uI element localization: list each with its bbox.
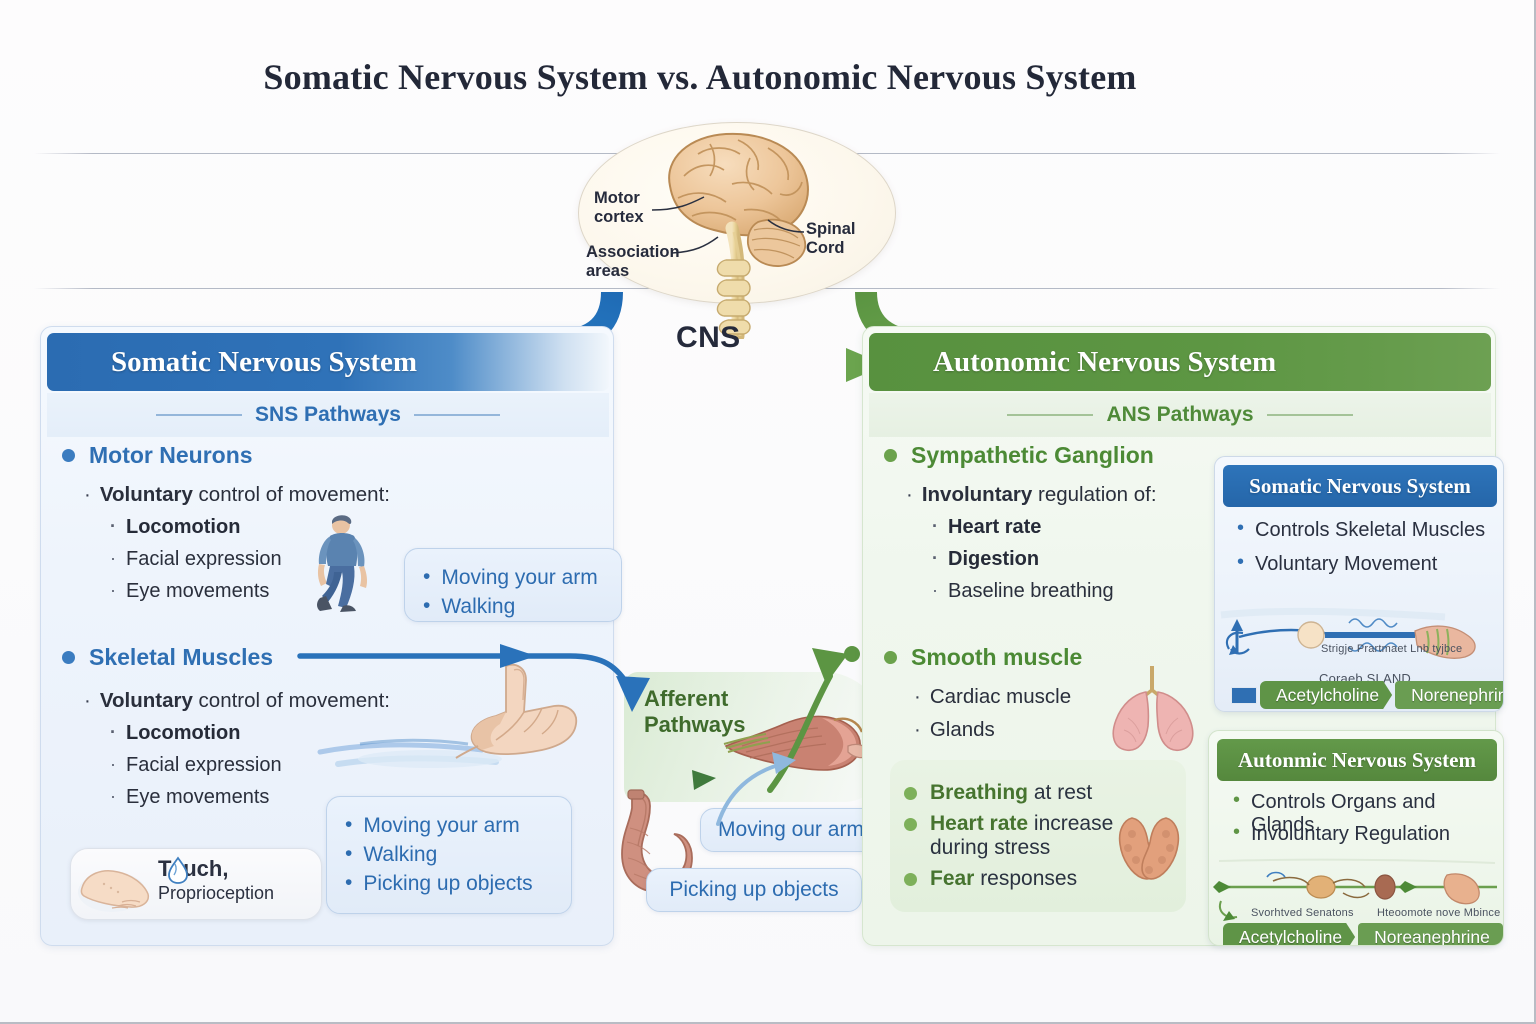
bullet-dot-icon: •: [1237, 519, 1244, 538]
compare-autonomic-neurotransmitters: Acetylcholine Noreanephrine: [1223, 923, 1503, 946]
tick-icon: ·: [932, 548, 938, 571]
page-title: Somatic Nervous System vs. Autonomic Ner…: [0, 56, 1400, 98]
compare-autonomic-diagram-label-2: Hteoomote nove Mbince: [1377, 907, 1500, 919]
sns-panel-header: Somatic Nervous System: [47, 333, 609, 391]
tick-icon: ·: [110, 548, 116, 571]
acetylcholine-badge: Acetylcholine: [1223, 923, 1355, 946]
bullet-dot-icon: [904, 873, 917, 886]
tick-icon: ·: [84, 483, 91, 507]
ans-block1-lead: · Involuntary regulation of:: [906, 483, 1214, 507]
norepinephrine-badge: Norenephrime: [1395, 681, 1504, 709]
tick-icon: ·: [110, 580, 116, 603]
middle-chip-picking-up-objects: Picking up objects: [646, 868, 862, 912]
label-spinal-cord: Spinal Cord: [806, 220, 870, 258]
heading-text: Motor Neurons: [89, 442, 253, 469]
droplet-icon: [166, 856, 190, 884]
bullet-dot-icon: •: [345, 814, 352, 835]
lead-bold: Voluntary: [100, 689, 193, 712]
bullet-dot-icon: •: [345, 872, 352, 893]
list-item: ·Digestion: [932, 548, 1214, 571]
bullet-dot-icon: •: [1233, 791, 1240, 810]
chip-item: •Moving your arm: [345, 814, 553, 838]
bullet-dot-icon: •: [1237, 553, 1244, 572]
bullet-dot-icon: [884, 449, 897, 462]
bullet-dot-icon: [904, 787, 917, 800]
lungs-illustration: [1104, 662, 1204, 754]
list-item: ·Heart rate: [932, 516, 1214, 539]
tick-icon: ·: [914, 685, 921, 709]
thyroid-gland-illustration: [1108, 812, 1192, 890]
bullet-dot-icon: •: [423, 566, 430, 587]
acetylcholine-badge: Acetylcholine: [1260, 681, 1392, 709]
sns-heading-motor-neurons: Motor Neurons: [62, 442, 392, 469]
tick-icon: ·: [932, 580, 938, 603]
chip-item: Breathing at rest: [904, 781, 1170, 805]
walking-person-illustration: [310, 512, 374, 622]
rule-left: [1007, 414, 1093, 415]
sns-subheader: SNS Pathways: [47, 393, 609, 437]
middle-chip-moving-our-arm: Moving our arm: [700, 808, 882, 852]
compare-somatic-diagram-label-1: Strigje Prartmaet Lnb tyjbce: [1321, 643, 1462, 655]
sns-block2-examples-chip: •Moving your arm •Walking •Picking up ob…: [326, 796, 572, 914]
bullet-dot-icon: •: [1233, 823, 1240, 842]
lead-bold: Involuntary: [922, 483, 1033, 506]
chip-item: •Picking up objects: [345, 872, 553, 896]
skeletal-muscle-illustration: [722, 690, 872, 786]
ans-heading-sympathetic-ganglion: Sympathetic Ganglion: [884, 442, 1214, 469]
compare-card-somatic-title: Somatic Nervous System: [1223, 465, 1497, 507]
heading-text: Smooth muscle: [911, 644, 1082, 671]
norepinephrine-badge: Noreanephrine: [1358, 923, 1503, 946]
tick-icon: ·: [110, 754, 116, 777]
ans-subheader: ANS Pathways: [869, 393, 1491, 437]
bullet-dot-icon: •: [345, 843, 352, 864]
list-item: •Involuntary Regulation: [1233, 823, 1450, 846]
compare-autonomic-diagram-label-1: Svorhtved Senatons: [1251, 907, 1354, 919]
chip-item: •Walking: [423, 595, 603, 619]
tick-icon: ·: [110, 516, 116, 539]
bullet-dot-icon: [62, 651, 75, 664]
tick-icon: ·: [110, 786, 116, 809]
label-cns: CNS: [676, 321, 741, 355]
motor-neuron-to-muscle-diagram: [1215, 587, 1504, 677]
color-swatch-icon: [1231, 687, 1257, 704]
bullet-dot-icon: [62, 449, 75, 462]
list-item: •Voluntary Movement: [1237, 553, 1437, 576]
tick-icon: ·: [110, 722, 116, 745]
sns-block1-examples-chip: •Moving your arm •Walking: [404, 548, 622, 622]
compare-somatic-neurotransmitters: Acetylcholine Norenephrime: [1231, 681, 1504, 709]
compare-card-autonomic-title: Autonmic Nervous System: [1217, 739, 1497, 781]
sns-subheader-label: SNS Pathways: [255, 403, 401, 427]
lead-rest: control of movement:: [193, 483, 390, 506]
list-item: •Controls Skeletal Muscles: [1237, 519, 1485, 542]
chip-item: •Moving your arm: [423, 566, 603, 590]
label-association-areas: Association areas: [586, 243, 682, 281]
label-motor-cortex: Motor cortex: [594, 189, 668, 227]
heading-text: Sympathetic Ganglion: [911, 442, 1154, 469]
bullet-dot-icon: •: [423, 595, 430, 616]
tick-icon: ·: [84, 689, 91, 713]
proprioception-label: Proprioception: [158, 883, 318, 904]
resting-hand-illustration: [78, 862, 156, 914]
pointing-hand-illustration: [310, 660, 600, 790]
bullet-dot-icon: [904, 818, 917, 831]
ans-panel-header: Autonomic Nervous System: [869, 333, 1491, 391]
heading-text: Skeletal Muscles: [89, 644, 273, 671]
lead-bold: Voluntary: [100, 483, 193, 506]
chip-item: •Walking: [345, 843, 553, 867]
bullet-dot-icon: [884, 651, 897, 664]
rule-left: [156, 414, 242, 415]
lead-rest: regulation of:: [1032, 483, 1156, 506]
compare-card-somatic: Somatic Nervous System •Controls Skeleta…: [1214, 456, 1504, 712]
rule-right: [1267, 414, 1353, 415]
sns-block1-lead: · Voluntary control of movement:: [84, 483, 392, 507]
ans-subheader-label: ANS Pathways: [1106, 403, 1253, 427]
ans-block-sympathetic-ganglion: Sympathetic Ganglion · Involuntary regul…: [884, 442, 1214, 603]
tick-icon: ·: [906, 483, 913, 507]
compare-card-autonomic: Autonmic Nervous System •Controls Organs…: [1208, 730, 1504, 946]
tick-icon: ·: [914, 718, 921, 742]
rule-right: [414, 414, 500, 415]
diagram-canvas: Somatic Nervous System vs. Autonomic Ner…: [0, 0, 1536, 1024]
tick-icon: ·: [932, 516, 938, 539]
list-item: ·Baseline breathing: [932, 580, 1214, 603]
